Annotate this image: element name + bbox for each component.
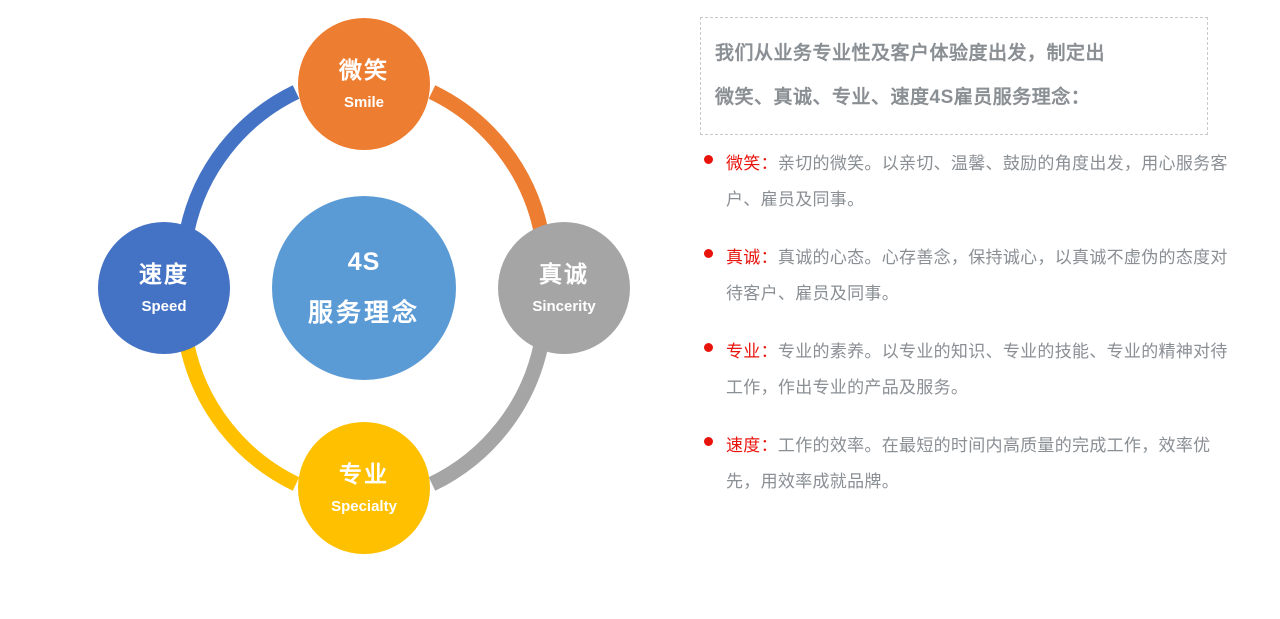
page-root: 4S 服务理念 微笑 Smile 真诚 Sincerity 专业 Special… [0, 0, 1280, 619]
bullet-text: 微笑：亲切的微笑。以亲切、温馨、鼓励的角度出发，用心服务客户、雇员及同事。 [726, 146, 1230, 218]
node-sincerity-en: Sincerity [532, 299, 595, 314]
service-concept-diagram: 4S 服务理念 微笑 Smile 真诚 Sincerity 专业 Special… [0, 0, 660, 619]
bullet-dot-icon [704, 343, 713, 352]
list-item: 微笑：亲切的微笑。以亲切、温馨、鼓励的角度出发，用心服务客户、雇员及同事。 [700, 146, 1230, 218]
bullet-dot-icon [704, 437, 713, 446]
arc-bottom-right [432, 345, 541, 484]
bullet-dot-icon [704, 155, 713, 164]
list-item: 专业：专业的素养。以专业的知识、专业的技能、专业的精神对待工作，作出专业的产品及… [700, 334, 1230, 406]
bullet-body: 工作的效率。在最短的时间内高质量的完成工作，效率优先，用效率成就品牌。 [726, 436, 1210, 491]
arc-top-right [432, 92, 541, 231]
bullet-body: 专业的素养。以专业的知识、专业的技能、专业的精神对待工作，作出专业的产品及服务。 [726, 342, 1228, 397]
headline-box: 我们从业务专业性及客户体验度出发，制定出 微笑、真诚、专业、速度4S雇员服务理念… [700, 17, 1208, 135]
node-smile-en: Smile [344, 95, 384, 110]
bullet-separator: ： [761, 154, 778, 173]
bullet-key: 专业 [726, 342, 761, 361]
bullet-dot-icon [704, 249, 713, 258]
bullet-key: 微笑 [726, 154, 761, 173]
bullet-text: 真诚：真诚的心态。心存善念，保持诚心，以真诚不虚伪的态度对待客户、雇员及同事。 [726, 240, 1230, 312]
arc-top-left [187, 92, 296, 231]
bullet-key: 真诚 [726, 248, 761, 267]
bullet-separator: ： [761, 342, 778, 361]
headline-line-2: 微笑、真诚、专业、速度4S雇员服务理念： [715, 76, 1193, 120]
node-speed-cn: 速度 [139, 263, 189, 286]
bullet-key: 速度 [726, 436, 761, 455]
bullet-body: 真诚的心态。心存善念，保持诚心，以真诚不虚伪的态度对待客户、雇员及同事。 [726, 248, 1228, 303]
bullet-body: 亲切的微笑。以亲切、温馨、鼓励的角度出发，用心服务客户、雇员及同事。 [726, 154, 1228, 209]
node-sincerity[interactable]: 真诚 Sincerity [498, 222, 630, 354]
arc-bottom-left [187, 345, 296, 484]
bullet-text: 速度：工作的效率。在最短的时间内高质量的完成工作，效率优先，用效率成就品牌。 [726, 428, 1230, 500]
center-node-subtitle: 服务理念 [308, 301, 420, 326]
node-speed-en: Speed [141, 299, 186, 314]
bullet-list: 微笑：亲切的微笑。以亲切、温馨、鼓励的角度出发，用心服务客户、雇员及同事。 真诚… [700, 146, 1230, 522]
node-sincerity-cn: 真诚 [539, 263, 589, 286]
center-node-title: 4S [348, 250, 381, 275]
node-speed[interactable]: 速度 Speed [98, 222, 230, 354]
list-item: 速度：工作的效率。在最短的时间内高质量的完成工作，效率优先，用效率成就品牌。 [700, 428, 1230, 500]
node-smile[interactable]: 微笑 Smile [298, 18, 430, 150]
bullet-separator: ： [761, 436, 778, 455]
description-panel: 我们从业务专业性及客户体验度出发，制定出 微笑、真诚、专业、速度4S雇员服务理念… [690, 0, 1250, 619]
node-smile-cn: 微笑 [339, 59, 389, 82]
node-specialty-en: Specialty [331, 499, 397, 514]
node-specialty-cn: 专业 [339, 463, 389, 486]
node-specialty[interactable]: 专业 Specialty [298, 422, 430, 554]
center-node-4s[interactable]: 4S 服务理念 [272, 196, 456, 380]
list-item: 真诚：真诚的心态。心存善念，保持诚心，以真诚不虚伪的态度对待客户、雇员及同事。 [700, 240, 1230, 312]
headline-line-1: 我们从业务专业性及客户体验度出发，制定出 [715, 32, 1193, 76]
bullet-separator: ： [761, 248, 778, 267]
bullet-text: 专业：专业的素养。以专业的知识、专业的技能、专业的精神对待工作，作出专业的产品及… [726, 334, 1230, 406]
